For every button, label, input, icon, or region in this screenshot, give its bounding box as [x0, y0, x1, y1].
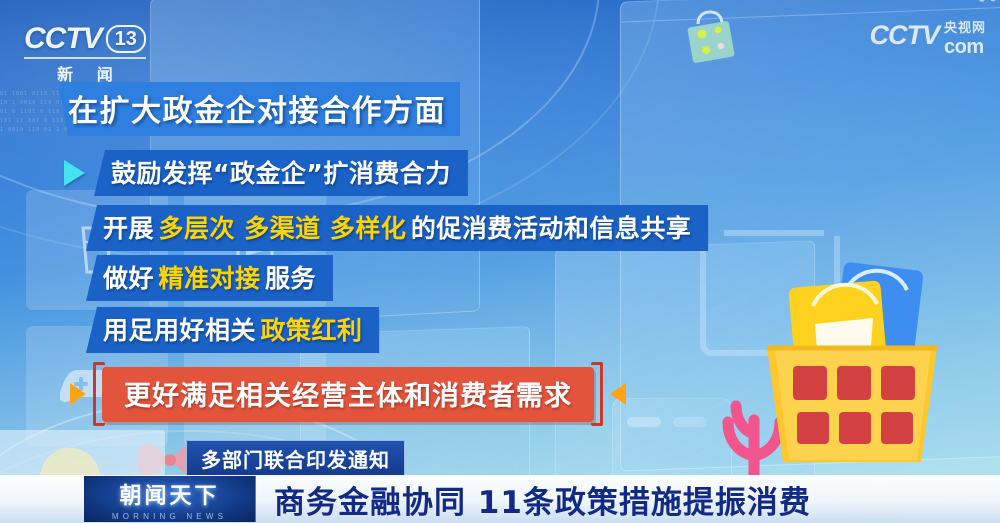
bullet-chip: 鼓励发挥“政金企”扩消费合力 — [94, 150, 468, 196]
highlight-text: 更好满足相关经营主体和消费者需求 — [124, 381, 572, 412]
cctv13-logo: CCTV 13 新 闻 — [24, 22, 146, 85]
lower-third-kicker: 多部门联合印发通知 — [186, 440, 405, 479]
shopping-basket-graphic — [745, 262, 960, 477]
bullet-item-2: 开展 多层次 多渠道 多样化 的促消费活动和信息共享 — [86, 205, 708, 251]
bullet-item-3: 做好 精准对接 服务 — [86, 255, 333, 301]
bullet-text: 鼓励发挥“政金企”扩消费合力 — [111, 159, 451, 188]
bullet-text: 用足用好相关 — [103, 316, 256, 345]
cctv-com-wordmark: CCTV — [869, 22, 939, 48]
page-title: 在扩大政金企对接合作方面 — [58, 82, 460, 136]
bullet-emphasis: 精准对接 — [158, 264, 260, 293]
kicker-text: 多部门联合印发通知 — [201, 448, 390, 472]
triangle-marker-icon — [70, 383, 86, 405]
highlight-callout: 更好满足相关经营主体和消费者需求 — [70, 362, 626, 426]
window-dot-icon — [979, 0, 985, 1]
window-dot-icon — [990, 0, 996, 1]
bullet-chip: 做好 精准对接 服务 — [86, 255, 333, 301]
bullet-item-4: 用足用好相关 政策红利 — [86, 307, 379, 353]
lower-third-bar: 朝闻天下 MORNING NEWS 商务金融协同 11条政策措施提振消费 — [0, 475, 1000, 523]
cctv-wordmark: CCTV — [24, 22, 102, 56]
cctv-com-watermark: CCTV 央视网 com — [869, 22, 986, 57]
cctv13-mark: CCTV 13 — [24, 22, 146, 56]
polka-bag-graphic — [680, 10, 742, 77]
bullet-text: 的促消费活动和信息共享 — [411, 214, 692, 243]
bullet-emphasis: 多层次 多渠道 多样化 — [158, 214, 406, 243]
bullet-chip: 开展 多层次 多渠道 多样化 的促消费活动和信息共享 — [86, 205, 708, 251]
program-name-cn: 朝闻天下 — [119, 478, 219, 510]
bullet-text: 做好 — [103, 264, 154, 293]
cctv-com-tld: com — [944, 37, 986, 57]
bracket-right-icon — [591, 362, 603, 426]
broadcast-frame: 01 1001 0110 11 0010 1101 0 1 0110 011 1… — [0, 0, 1000, 523]
bullet-emphasis: 政策红利 — [260, 316, 362, 345]
cctv-com-right: 央视网 com — [944, 22, 986, 57]
headline-ticker-text: 商务金融协同 11条政策措施提振消费 — [274, 477, 811, 522]
window-titlebar — [621, 0, 1000, 23]
program-name-en: MORNING NEWS — [112, 512, 227, 521]
triangle-marker-icon — [610, 383, 626, 405]
bullet-text: 服务 — [265, 264, 316, 293]
page-title-text: 在扩大政金企对接合作方面 — [68, 94, 446, 129]
cctv-com-brand-cn: 央视网 — [944, 22, 986, 35]
bullet-item-1: 鼓励发挥“政金企”扩消费合力 — [64, 150, 468, 196]
program-badge: 朝闻天下 MORNING NEWS — [84, 476, 256, 522]
triangle-marker-icon — [64, 160, 85, 186]
bullet-chip: 用足用好相关 政策红利 — [86, 307, 379, 353]
channel-number: 13 — [106, 25, 146, 53]
channel-label: 新 闻 — [24, 57, 146, 85]
bullet-text: 开展 — [103, 214, 154, 243]
highlight-chip: 更好满足相关经营主体和消费者需求 — [102, 367, 594, 422]
